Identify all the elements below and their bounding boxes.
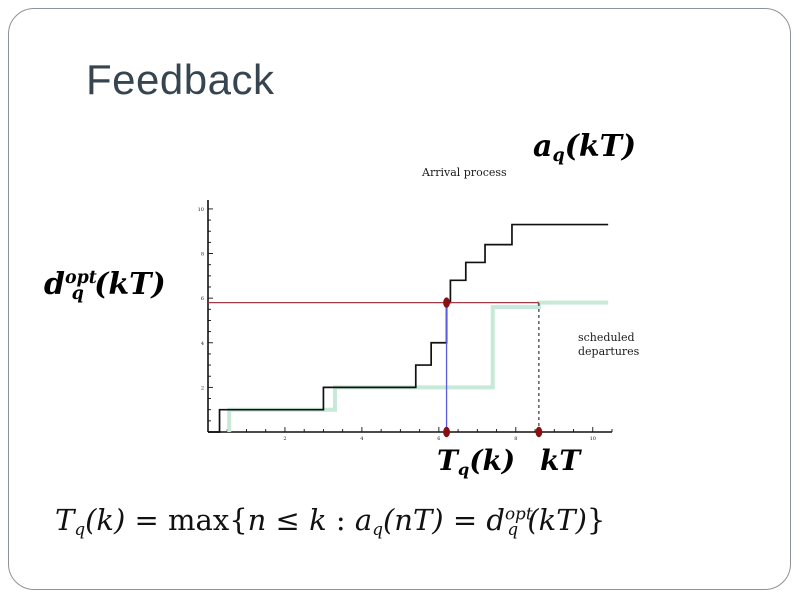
formula-k: k (309, 503, 327, 537)
formula-aq: aq(nT) (355, 503, 444, 537)
formula-dq: doptq (kT) (486, 503, 587, 537)
arrival-curve-label: aq(kT) (533, 132, 636, 162)
y-axis-tick-label: 2 (201, 385, 204, 391)
step-function-chart: 246810246810 (196, 186, 626, 448)
formula-close: } (587, 503, 605, 537)
y-axis-tick-label: 8 (201, 252, 204, 258)
kt-axis-label: kT (540, 447, 580, 475)
x-axis-tick-label: 2 (283, 436, 286, 442)
tq-axis-label-text: Tq(k) (437, 444, 515, 477)
marker-dot (535, 427, 542, 437)
arrival-curve-label-text: aq(kT) (533, 129, 636, 164)
y-axis-tick-label: 4 (201, 341, 204, 347)
x-axis-tick-label: 8 (514, 436, 517, 442)
formula-n: n (248, 503, 267, 537)
formula-equation: Tq(k) = max{n ≤ k : aq(nT) = doptq (kT)} (55, 503, 605, 537)
arrival-process-annotation: Arrival process (422, 166, 507, 180)
tq-axis-label: Tq(k) (437, 447, 515, 475)
departure-step-curve (229, 303, 608, 432)
arrival-step-curve (208, 225, 608, 432)
chart-root: 246810246810 (198, 200, 612, 442)
kt-axis-label-text: kT (540, 444, 580, 477)
formula-equals: = max{ (135, 503, 248, 537)
formula-colon: : (327, 503, 355, 537)
y-axis-tick-label: 6 (201, 296, 204, 302)
formula-lhs: Tq(k) (55, 503, 125, 537)
slide-canvas: Feedback aq(kT) doptq (kT) Tq(k) kT Arri… (0, 0, 800, 599)
marker-dot (443, 427, 450, 437)
x-axis-tick-label: 6 (437, 436, 440, 442)
page-title: Feedback (86, 56, 274, 104)
marker-dot (443, 297, 450, 307)
formula-eq2: = (444, 503, 487, 537)
departure-threshold-label: doptq (kT) (44, 270, 166, 300)
departure-threshold-label-text: doptq (kT) (44, 267, 166, 302)
y-axis-tick-label: 10 (198, 207, 204, 213)
x-axis-tick-label: 10 (590, 436, 596, 442)
chart-svg: 246810246810 (196, 186, 626, 448)
formula-leq: ≤ (266, 503, 309, 537)
x-axis-tick-label: 4 (360, 436, 363, 442)
